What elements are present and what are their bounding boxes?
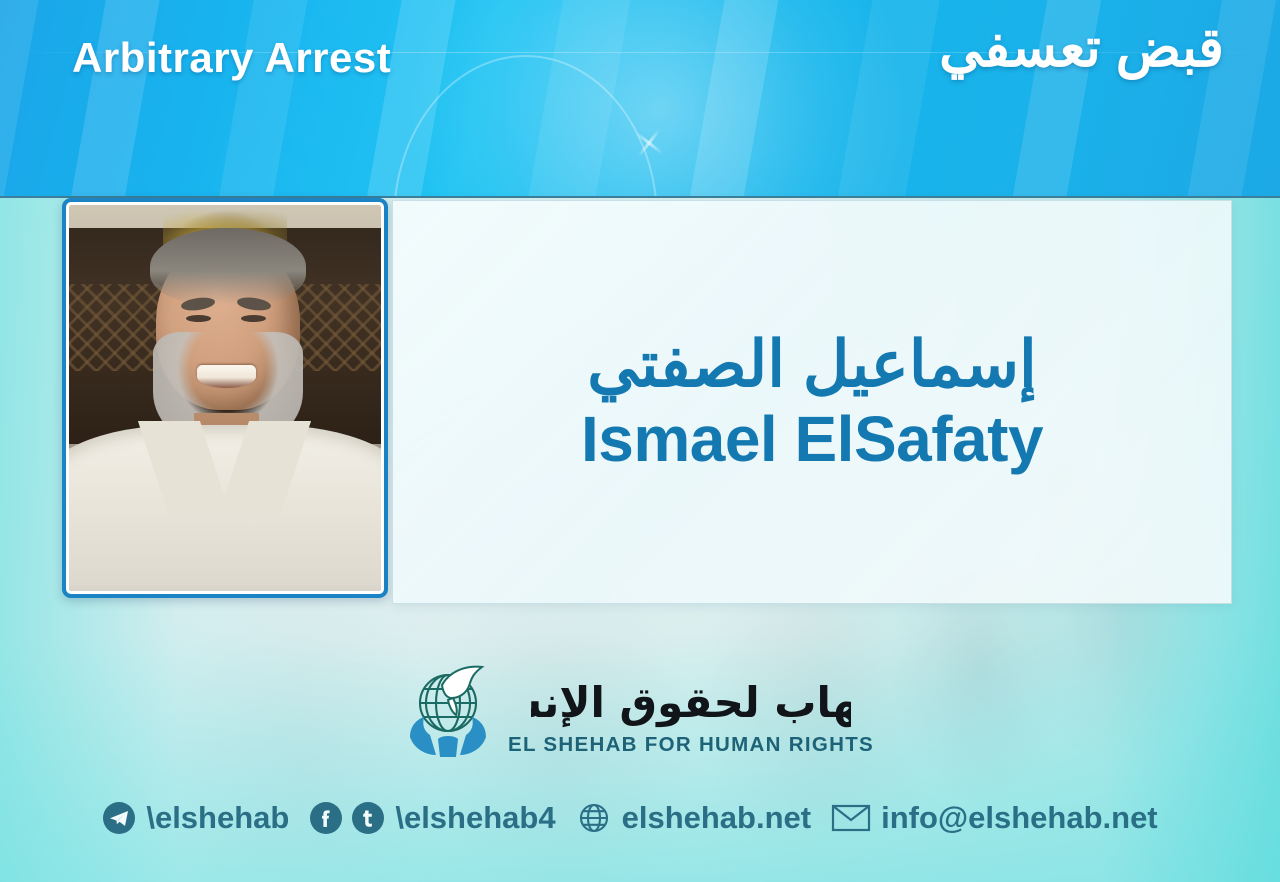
person-name-english: Ismael ElSafaty — [581, 405, 1043, 474]
banner-title-english: Arbitrary Arrest — [72, 34, 391, 82]
telegram-icon[interactable] — [102, 801, 136, 835]
contact-telegram-label: \elshehab — [146, 800, 289, 836]
banner-title-arabic: قبض تعسفي — [939, 16, 1224, 79]
twitter-icon[interactable] — [351, 801, 385, 835]
sparkle-icon — [632, 126, 666, 160]
photo-hair — [150, 228, 306, 305]
contact-website-label: elshehab.net — [622, 800, 812, 836]
photo-eye-right — [241, 315, 266, 322]
photo-eye-left — [186, 315, 211, 322]
contact-bar: \elshehab \elshehab4 — [0, 800, 1280, 836]
contact-social[interactable]: \elshehab4 — [309, 800, 575, 836]
globe-icon[interactable] — [576, 800, 612, 836]
person-name-arabic: إسماعيل الصفتي — [587, 330, 1036, 399]
contact-email[interactable]: info@elshehab.net — [831, 800, 1178, 836]
organization-logo: الشهاب لحقوق الإنسان EL SHEHAB FOR HUMAN… — [0, 655, 1280, 765]
email-icon[interactable] — [831, 803, 871, 833]
facebook-icon[interactable] — [309, 801, 343, 835]
contact-website[interactable]: elshehab.net — [576, 800, 832, 836]
contact-telegram[interactable]: \elshehab — [102, 800, 309, 836]
portrait-photo — [69, 205, 381, 591]
logo-arabic-text: الشهاب لحقوق الإنسان — [531, 678, 851, 728]
header-banner: Arbitrary Arrest قبض تعسفي — [0, 0, 1280, 198]
portrait-frame — [62, 198, 388, 598]
logo-arabic-calligraphy: الشهاب لحقوق الإنسان — [531, 663, 851, 737]
logo-english-text: EL SHEHAB FOR HUMAN RIGHTS — [508, 733, 874, 757]
globe-dove-hands-icon — [406, 655, 502, 765]
human-rights-arrest-card: Arbitrary Arrest قبض تعسفي إسماعيل الصفت… — [0, 0, 1280, 882]
contact-email-label: info@elshehab.net — [881, 800, 1158, 836]
contact-social-label: \elshehab4 — [395, 800, 555, 836]
name-panel: إسماعيل الصفتي Ismael ElSafaty — [392, 200, 1232, 604]
logo-text-block: الشهاب لحقوق الإنسان EL SHEHAB FOR HUMAN… — [508, 663, 874, 757]
